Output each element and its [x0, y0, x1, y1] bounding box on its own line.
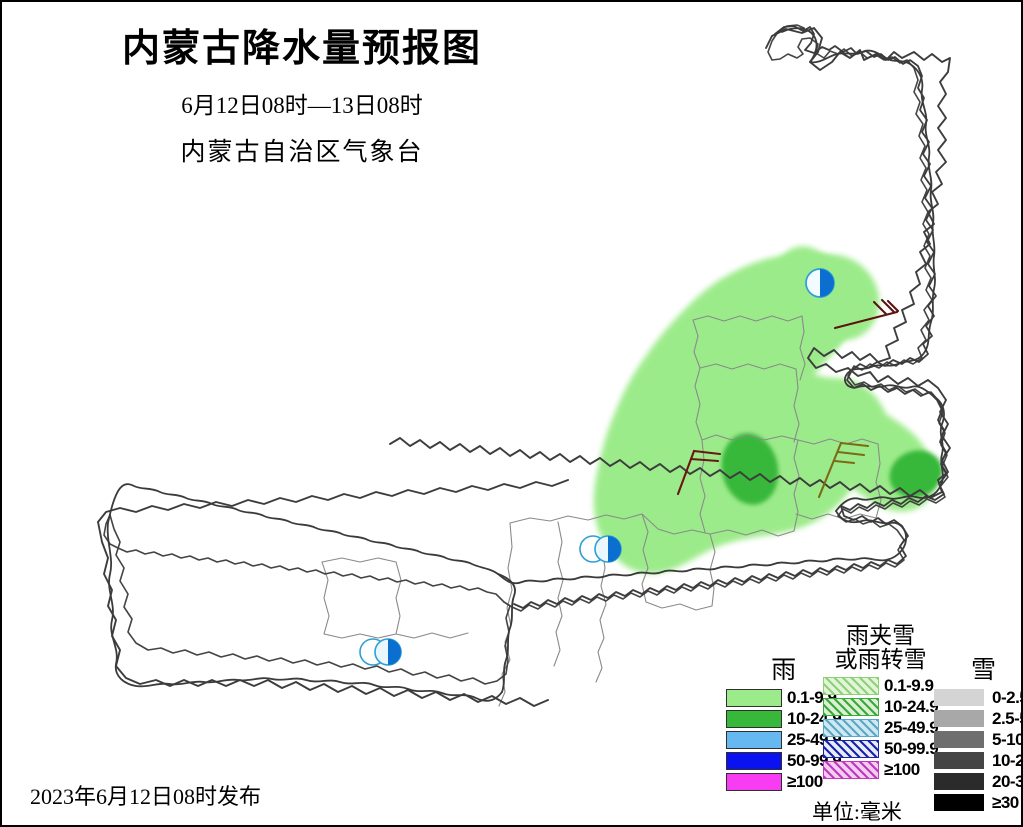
legend-row: 0.1-9.9: [823, 675, 938, 696]
legend-row: 50-99.9: [823, 738, 938, 759]
weather-map-page: 内蒙古降水量预报图 6月12日08时—13日08时 内蒙古自治区气象台 2023…: [0, 0, 1023, 827]
legend-label-sleet-2: 25-49.9: [884, 718, 938, 738]
legend-swatch-snow-5: [934, 794, 984, 811]
legend-label-snow-5: ≥30: [992, 793, 1019, 813]
legend-heading-sleet-line1: 雨夹雪: [823, 624, 938, 648]
forecast-period: 6月12日08时—13日08时: [2, 86, 602, 120]
legend-swatch-snow-4: [934, 773, 984, 790]
legend-heading-snow: 雪: [934, 658, 1023, 684]
legend-swatch-sleet-2: [823, 719, 879, 737]
legend-row: 20-30: [934, 771, 1023, 792]
title-block: 内蒙古降水量预报图 6月12日08时—13日08时 内蒙古自治区气象台: [2, 28, 602, 168]
legend-swatch-rain-4: [726, 773, 782, 791]
page-title: 内蒙古降水量预报图: [2, 28, 602, 72]
station-symbol-northeast[interactable]: [806, 269, 834, 297]
legend-row: 10-24.9: [823, 696, 938, 717]
legend-row: ≥100: [823, 759, 938, 780]
legend-row: 25-49.9: [823, 717, 938, 738]
legend-swatch-rain-2: [726, 731, 782, 749]
issue-timestamp: 2023年6月12日08时发布: [30, 779, 261, 811]
legend: 雨 0.1-9.910-24.925-49.950-99.9≥100 雨夹雪 或…: [726, 624, 1018, 822]
legend-row: ≥30: [934, 792, 1023, 813]
legend-swatch-sleet-4: [823, 761, 879, 779]
legend-label-rain-4: ≥100: [787, 772, 823, 792]
legend-swatch-snow-0: [934, 689, 984, 706]
legend-label-sleet-4: ≥100: [884, 760, 920, 780]
legend-row: 0-2.5: [934, 687, 1023, 708]
legend-swatch-rain-3: [726, 752, 782, 770]
legend-label-sleet-3: 50-99.9: [884, 739, 938, 759]
legend-heading-sleet-line2: 或雨转雪: [823, 648, 938, 672]
legend-label-sleet-1: 10-24.9: [884, 697, 938, 717]
station-symbol-west[interactable]: [360, 639, 401, 665]
station-symbol-central[interactable]: [580, 536, 621, 562]
issuing-authority: 内蒙古自治区气象台: [2, 132, 602, 168]
legend-column-sleet: 雨夹雪 或雨转雪 0.1-9.910-24.925-49.950-99.9≥10…: [823, 624, 938, 780]
legend-row: 2.5-5: [934, 708, 1023, 729]
legend-label-snow-0: 0-2.5: [992, 688, 1023, 708]
legend-row: 5-10: [934, 729, 1023, 750]
legend-label-snow-2: 5-10: [992, 730, 1023, 750]
legend-swatch-snow-3: [934, 752, 984, 769]
legend-swatch-snow-2: [934, 731, 984, 748]
legend-swatch-sleet-3: [823, 740, 879, 758]
legend-swatch-sleet-1: [823, 698, 879, 716]
legend-label-sleet-0: 0.1-9.9: [884, 676, 933, 696]
legend-label-snow-1: 2.5-5: [992, 709, 1023, 729]
legend-swatch-snow-1: [934, 710, 984, 727]
legend-swatch-rain-0: [726, 689, 782, 707]
legend-swatch-sleet-0: [823, 677, 879, 695]
legend-column-snow: 雪 0-2.52.5-55-1010-2020-30≥30: [934, 658, 1023, 813]
legend-row: 10-20: [934, 750, 1023, 771]
legend-label-snow-4: 20-30: [992, 772, 1023, 792]
legend-label-snow-3: 10-20: [992, 751, 1023, 771]
legend-rows-snow: 0-2.52.5-55-1010-2020-30≥30: [934, 687, 1023, 813]
legend-rows-sleet: 0.1-9.910-24.925-49.950-99.9≥100: [823, 675, 938, 780]
legend-units: 单位:毫米: [812, 796, 902, 826]
legend-swatch-rain-1: [726, 710, 782, 728]
legend-heading-sleet: 雨夹雪 或雨转雪: [823, 624, 938, 672]
